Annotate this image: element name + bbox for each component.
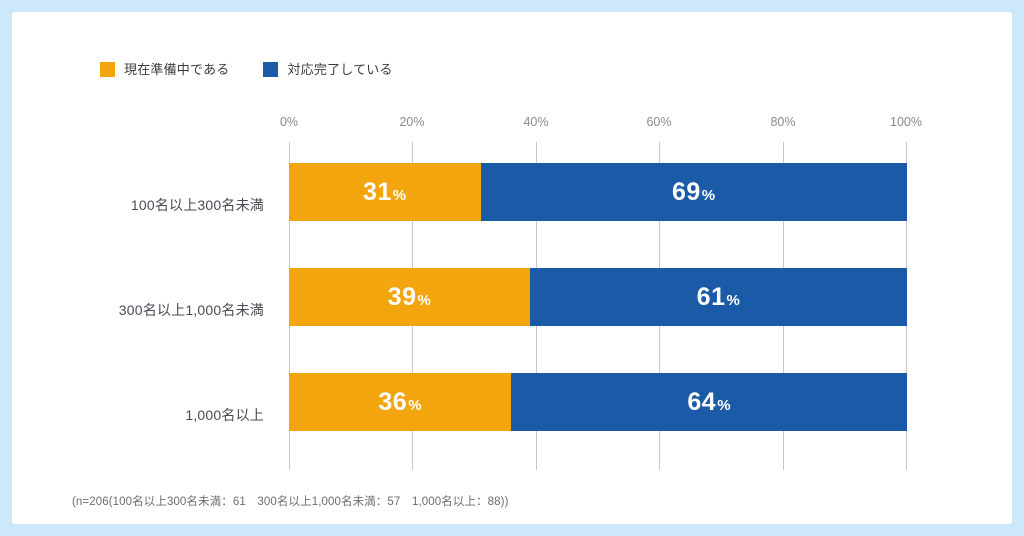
x-axis: 0% 20% 40% 60% 80% 100%	[289, 116, 907, 136]
category-label-2: 1,000名以上	[14, 408, 264, 422]
x-tick-label-0: 0%	[280, 116, 298, 129]
x-tick-label-20: 20%	[399, 116, 424, 129]
bar-value-number: 69	[672, 180, 701, 205]
x-tick-label-100: 100%	[890, 116, 922, 129]
category-label-1: 300名以上1,000名未満	[14, 303, 264, 317]
bar-segment-blue[interactable]: 61%	[530, 268, 907, 326]
legend-item-0[interactable]: 現在準備中である	[100, 62, 229, 77]
legend-swatch-orange	[100, 62, 115, 77]
chart-footnote: (n=206(100名以上300名未満：61 300名以上1,000名未満：57…	[72, 497, 509, 509]
percent-sign: %	[408, 398, 422, 413]
legend-item-1[interactable]: 対応完了している	[263, 62, 392, 77]
bar-value-label: 36%	[378, 390, 422, 415]
bar-value-label: 31%	[363, 180, 407, 205]
bar-value-number: 64	[687, 390, 716, 415]
chart-legend: 現在準備中である 対応完了している	[100, 62, 393, 77]
bar-value-number: 61	[697, 285, 726, 310]
percent-sign: %	[417, 293, 431, 308]
bar-value-number: 39	[388, 285, 417, 310]
bar-value-label: 61%	[697, 285, 741, 310]
bar-value-number: 31	[363, 180, 392, 205]
x-tick-label-40: 40%	[523, 116, 548, 129]
bar-value-number: 36	[378, 390, 407, 415]
bar-segment-orange[interactable]: 31%	[289, 163, 481, 221]
bar-row: 39% 61%	[289, 268, 907, 326]
bar-segment-blue[interactable]: 69%	[481, 163, 907, 221]
category-label-0: 100名以上300名未満	[14, 198, 264, 212]
percent-sign: %	[393, 188, 407, 203]
bar-row: 36% 64%	[289, 373, 907, 431]
bar-value-label: 64%	[687, 390, 731, 415]
bar-value-label: 39%	[388, 285, 432, 310]
bar-segment-orange[interactable]: 36%	[289, 373, 511, 431]
chart-card: 現在準備中である 対応完了している 0% 20% 40% 60% 80% 100…	[12, 12, 1012, 524]
x-tick-label-60: 60%	[646, 116, 671, 129]
percent-sign: %	[717, 398, 731, 413]
legend-label-1: 対応完了している	[287, 63, 392, 76]
percent-sign: %	[726, 293, 740, 308]
x-tick-label-80: 80%	[770, 116, 795, 129]
percent-sign: %	[702, 188, 716, 203]
bar-value-label: 69%	[672, 180, 716, 205]
legend-swatch-blue	[263, 62, 278, 77]
bar-segment-blue[interactable]: 64%	[511, 373, 907, 431]
bar-segment-orange[interactable]: 39%	[289, 268, 530, 326]
bar-row: 31% 69%	[289, 163, 907, 221]
legend-label-0: 現在準備中である	[124, 63, 229, 76]
